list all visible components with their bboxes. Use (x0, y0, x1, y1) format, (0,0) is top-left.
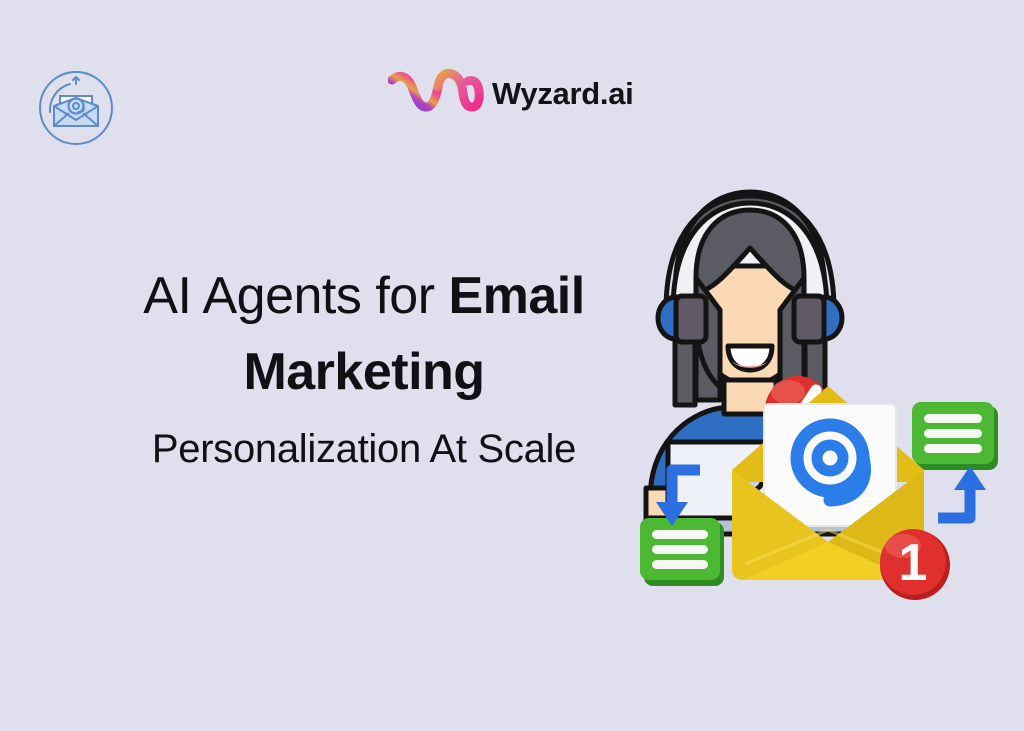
email-marketing-agent-illustration: 1 (620, 170, 1020, 640)
page-title: AI Agents for Email Marketing (110, 258, 618, 410)
headline-line-1: AI Agents for Email (110, 258, 618, 334)
arrow-up-right (938, 466, 986, 518)
poster-canvas: Wyzard.ai AI Agents for Email Marketing … (0, 0, 1024, 731)
message-card-top-right (912, 402, 998, 470)
brand-name: Wyzard.ai (492, 78, 633, 109)
notification-count-text: 1 (899, 534, 928, 592)
wyzard-wave-logo-icon (388, 63, 484, 123)
message-card-bottom-left (640, 518, 724, 586)
headline-light-text: AI Agents for (143, 267, 448, 325)
headline-line-2: Marketing (110, 334, 618, 410)
brand-logo[interactable]: Wyzard.ai (388, 60, 633, 126)
email-at-circle-icon (36, 68, 116, 148)
headline-bold-text: Email (448, 267, 584, 325)
page-subtitle: Personalization At Scale (110, 420, 618, 478)
notification-count-badge: 1 (880, 529, 950, 600)
